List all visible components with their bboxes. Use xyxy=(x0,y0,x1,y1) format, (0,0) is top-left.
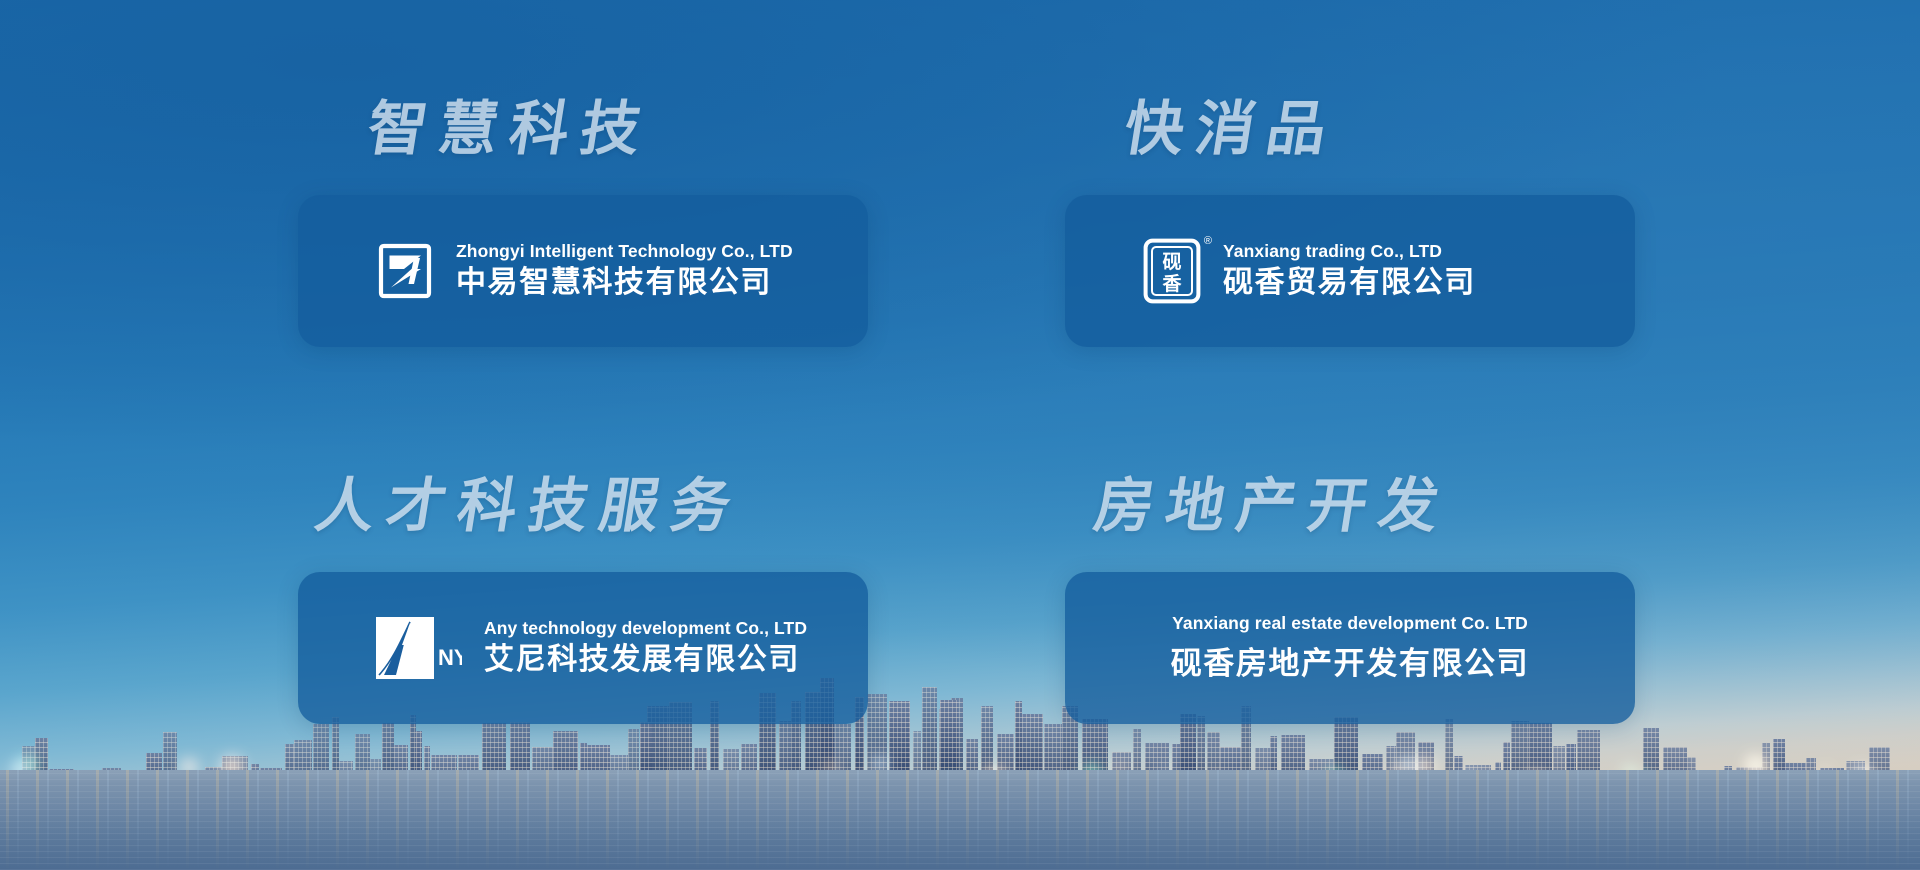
company-name-cn: 砚香房地产开发有限公司 xyxy=(1171,645,1530,682)
company-card[interactable]: NY Any technology development Co., LTD 艾… xyxy=(298,572,868,724)
company-card[interactable]: Yanxiang real estate development Co. LTD… xyxy=(1065,572,1635,724)
segment-smart-technology: 智慧科技 Zhongyi Intelligent Technology Co.,… xyxy=(298,100,868,347)
segment-real-estate-development: 房地产开发 Yanxiang real estate development C… xyxy=(1065,477,1635,724)
segment-title: 房地产开发 xyxy=(1060,477,1639,536)
segment-title: 智慧科技 xyxy=(293,100,872,159)
company-card[interactable]: 砚 香 ® Yanxiang trading Co., LTD 砚香贸易有限公司 xyxy=(1065,195,1635,347)
company-card[interactable]: Zhongyi Intelligent Technology Co., LTD … xyxy=(298,195,868,347)
segment-talent-technology-services: 人才科技服务 NY Any technology development Co.… xyxy=(298,477,868,724)
registered-trademark-icon: ® xyxy=(1204,236,1212,247)
zhongyi-z-seal-logo xyxy=(376,242,434,300)
segment-title: 人才科技服务 xyxy=(293,477,872,536)
segments-grid: 智慧科技 Zhongyi Intelligent Technology Co.,… xyxy=(0,0,1920,870)
any-mountain-logo: NY xyxy=(376,617,462,679)
company-name-cn: 砚香贸易有限公司 xyxy=(1223,265,1476,301)
company-name-en: Any technology development Co., LTD xyxy=(484,618,807,640)
segment-title: 快消品 xyxy=(1060,100,1639,159)
yanxiang-seal-logo: 砚 香 ® xyxy=(1143,238,1201,304)
company-name-en: Yanxiang trading Co., LTD xyxy=(1223,241,1476,263)
company-name-cn: 中易智慧科技有限公司 xyxy=(456,265,793,301)
svg-text:香: 香 xyxy=(1161,273,1182,295)
segment-fast-moving-consumer-goods: 快消品 砚 香 ® Yanxiang trading Co., L xyxy=(1065,100,1635,347)
company-name-cn: 艾尼科技发展有限公司 xyxy=(484,642,807,678)
any-logo-text: NY xyxy=(438,645,462,670)
svg-text:砚: 砚 xyxy=(1162,251,1181,273)
company-name-en: Zhongyi Intelligent Technology Co., LTD xyxy=(456,241,793,263)
company-name-en: Yanxiang real estate development Co. LTD xyxy=(1172,613,1528,635)
